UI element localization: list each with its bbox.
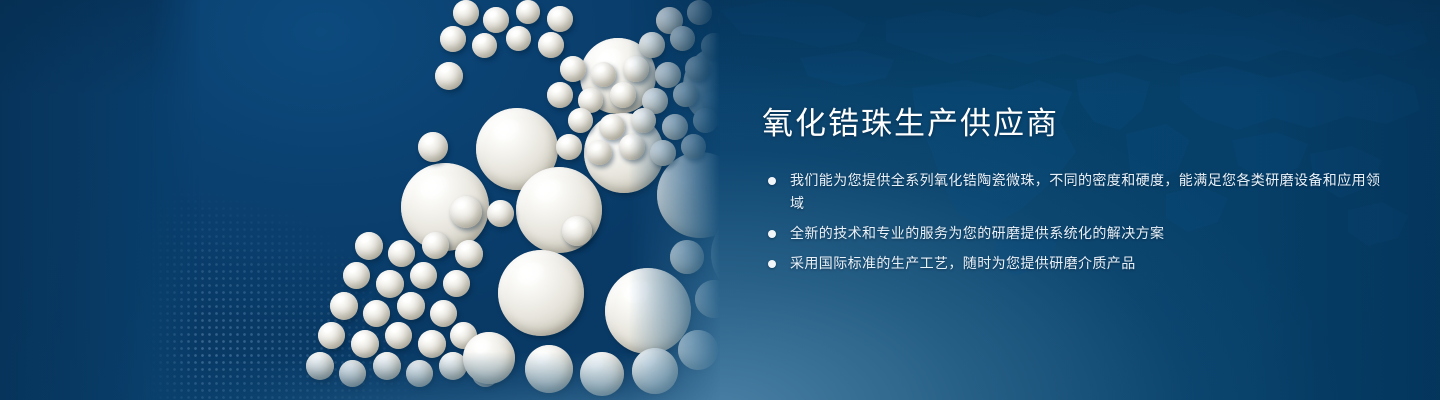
ceramic-bead [397,292,425,320]
ceramic-bead [453,0,479,26]
ceramic-bead [623,56,649,82]
ceramic-bead [418,132,448,162]
ceramic-bead [693,108,718,133]
banner-headline: 氧化锆珠生产供应商 [762,106,1382,143]
ceramic-bead [463,332,515,384]
bullet-dot-icon [768,260,776,268]
ceramic-bead [373,352,401,380]
ceramic-bead [560,56,586,82]
ceramic-bead [587,140,612,165]
ceramic-bead [318,322,345,349]
ceramic-bead [631,108,656,133]
banner-bullet-list: 我们能为您提供全系列氧化锆陶瓷微珠，不同的密度和硬度，能满足您各类研磨设备和应用… [762,169,1382,275]
bead-cluster [150,0,720,400]
ceramic-bead [632,348,678,394]
ceramic-bead [440,26,466,52]
ceramic-bead [422,232,449,259]
ceramic-bead [351,330,379,358]
ceramic-bead [516,167,602,253]
ceramic-bead [355,232,383,260]
ceramic-bead [639,32,665,58]
ceramic-bead [418,330,446,358]
ceramic-bead [662,114,688,140]
ceramic-bead [599,114,625,140]
ceramic-bead [483,7,509,33]
bullet-text: 我们能为您提供全系列氧化锆陶瓷微珠，不同的密度和硬度，能满足您各类研磨设备和应用… [790,172,1380,211]
ceramic-bead [343,262,370,289]
ceramic-bead [687,0,712,25]
ceramic-bead [701,33,720,59]
ceramic-bead [330,292,358,320]
bullet-dot-icon [768,230,776,238]
ceramic-bead [410,262,437,289]
ceramic-bead [339,360,366,387]
ceramic-bead [363,300,390,327]
ceramic-bead [306,352,334,380]
ceramic-bead [556,134,582,160]
ceramic-bead [525,345,573,393]
zirconia-beads-photo [150,0,720,400]
bullet-item: 采用国际标准的生产工艺，随时为您提供研磨介质产品 [762,252,1382,275]
ceramic-bead [547,6,573,32]
ceramic-bead [538,32,564,58]
ceramic-bead [619,134,645,160]
bullet-item: 我们能为您提供全系列氧化锆陶瓷微珠，不同的密度和硬度，能满足您各类研磨设备和应用… [762,169,1382,215]
ceramic-bead [610,82,636,108]
ceramic-bead [506,26,531,51]
ceramic-bead [455,240,483,268]
ceramic-bead [406,360,433,387]
ceramic-bead [605,268,691,354]
hero-banner: 氧化锆珠生产供应商 我们能为您提供全系列氧化锆陶瓷微珠，不同的密度和硬度，能满足… [0,0,1440,400]
ceramic-bead [376,270,404,298]
bullet-text: 全新的技术和专业的服务为您的研磨提供系统化的解决方案 [790,225,1164,241]
ceramic-bead [568,108,593,133]
ceramic-bead [695,280,720,318]
ceramic-bead [650,140,676,166]
ceramic-bead [516,0,540,24]
ceramic-bead [591,62,616,87]
ceramic-bead [388,240,415,267]
ceramic-bead [685,56,710,81]
ceramic-bead [430,300,457,327]
ceramic-bead [443,270,470,297]
ceramic-bead [580,352,624,396]
ceramic-bead [450,196,482,228]
ceramic-bead [562,216,592,246]
ceramic-bead [673,82,698,107]
bullet-text: 采用国际标准的生产工艺，随时为您提供研磨介质产品 [790,255,1136,271]
ceramic-bead [547,82,573,108]
ceramic-bead [435,62,463,90]
banner-content: 氧化锆珠生产供应商 我们能为您提供全系列氧化锆陶瓷微珠，不同的密度和硬度，能满足… [762,106,1382,275]
ceramic-bead [385,322,412,349]
ceramic-bead [498,250,584,336]
ceramic-bead [670,26,695,51]
ceramic-bead [670,240,704,274]
ceramic-bead [472,33,497,58]
ceramic-bead [678,330,718,370]
ceramic-bead [718,7,720,33]
bullet-dot-icon [768,177,776,185]
ceramic-bead [487,200,514,227]
bullet-item: 全新的技术和专业的服务为您的研磨提供系统化的解决方案 [762,222,1382,245]
ceramic-bead [681,134,706,159]
